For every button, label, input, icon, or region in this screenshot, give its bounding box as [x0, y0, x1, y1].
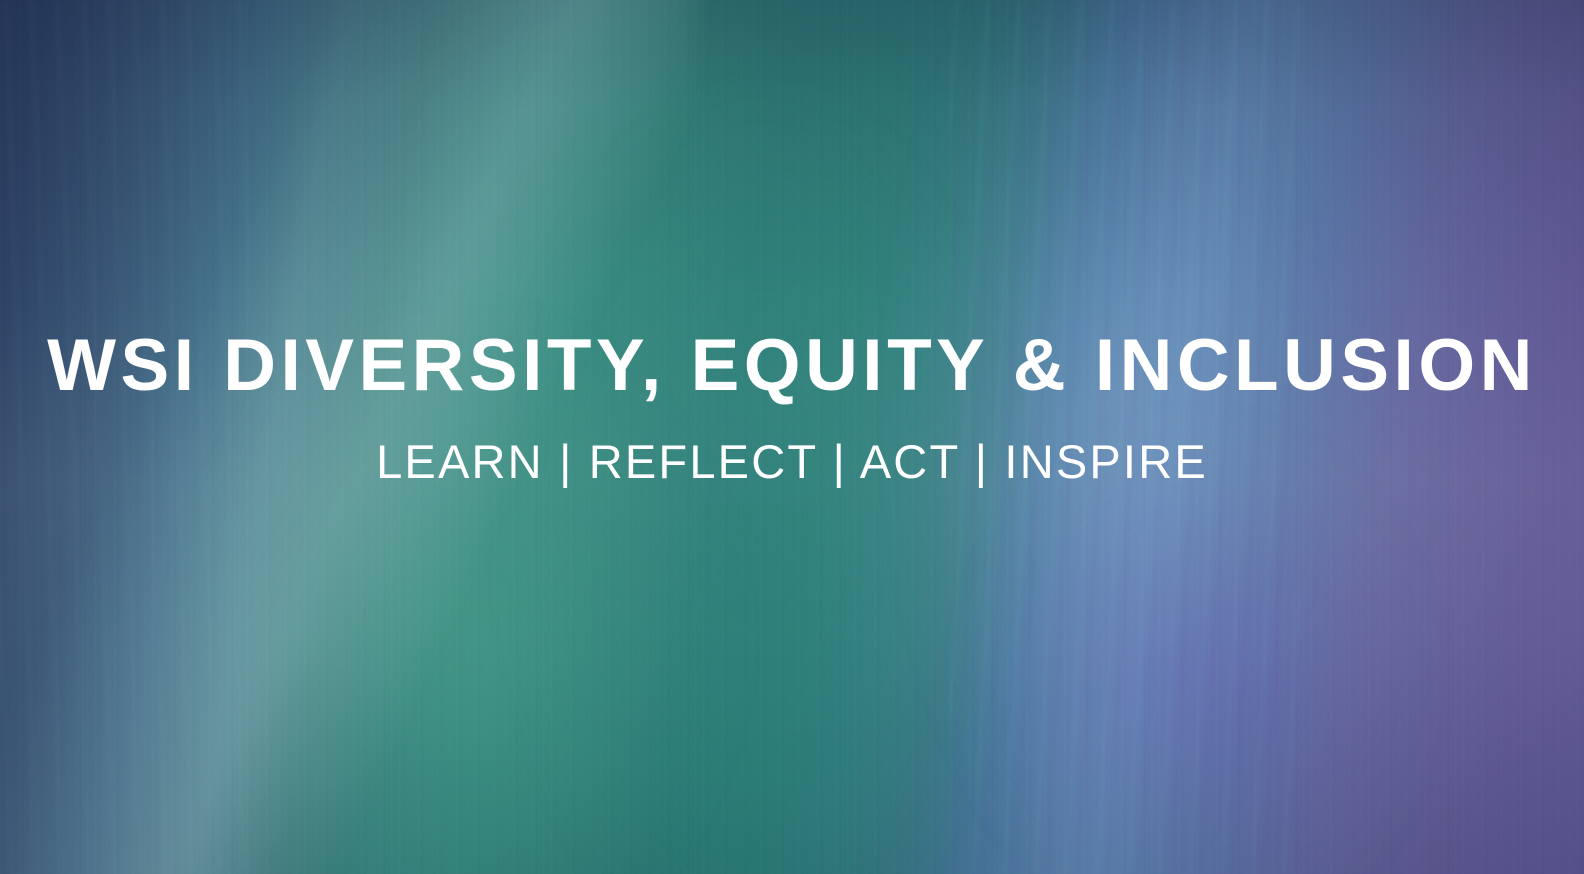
background-vignette: [0, 0, 1584, 874]
dei-hero-banner: WSI DIVERSITY, EQUITY & INCLUSION LEARN …: [0, 0, 1584, 874]
